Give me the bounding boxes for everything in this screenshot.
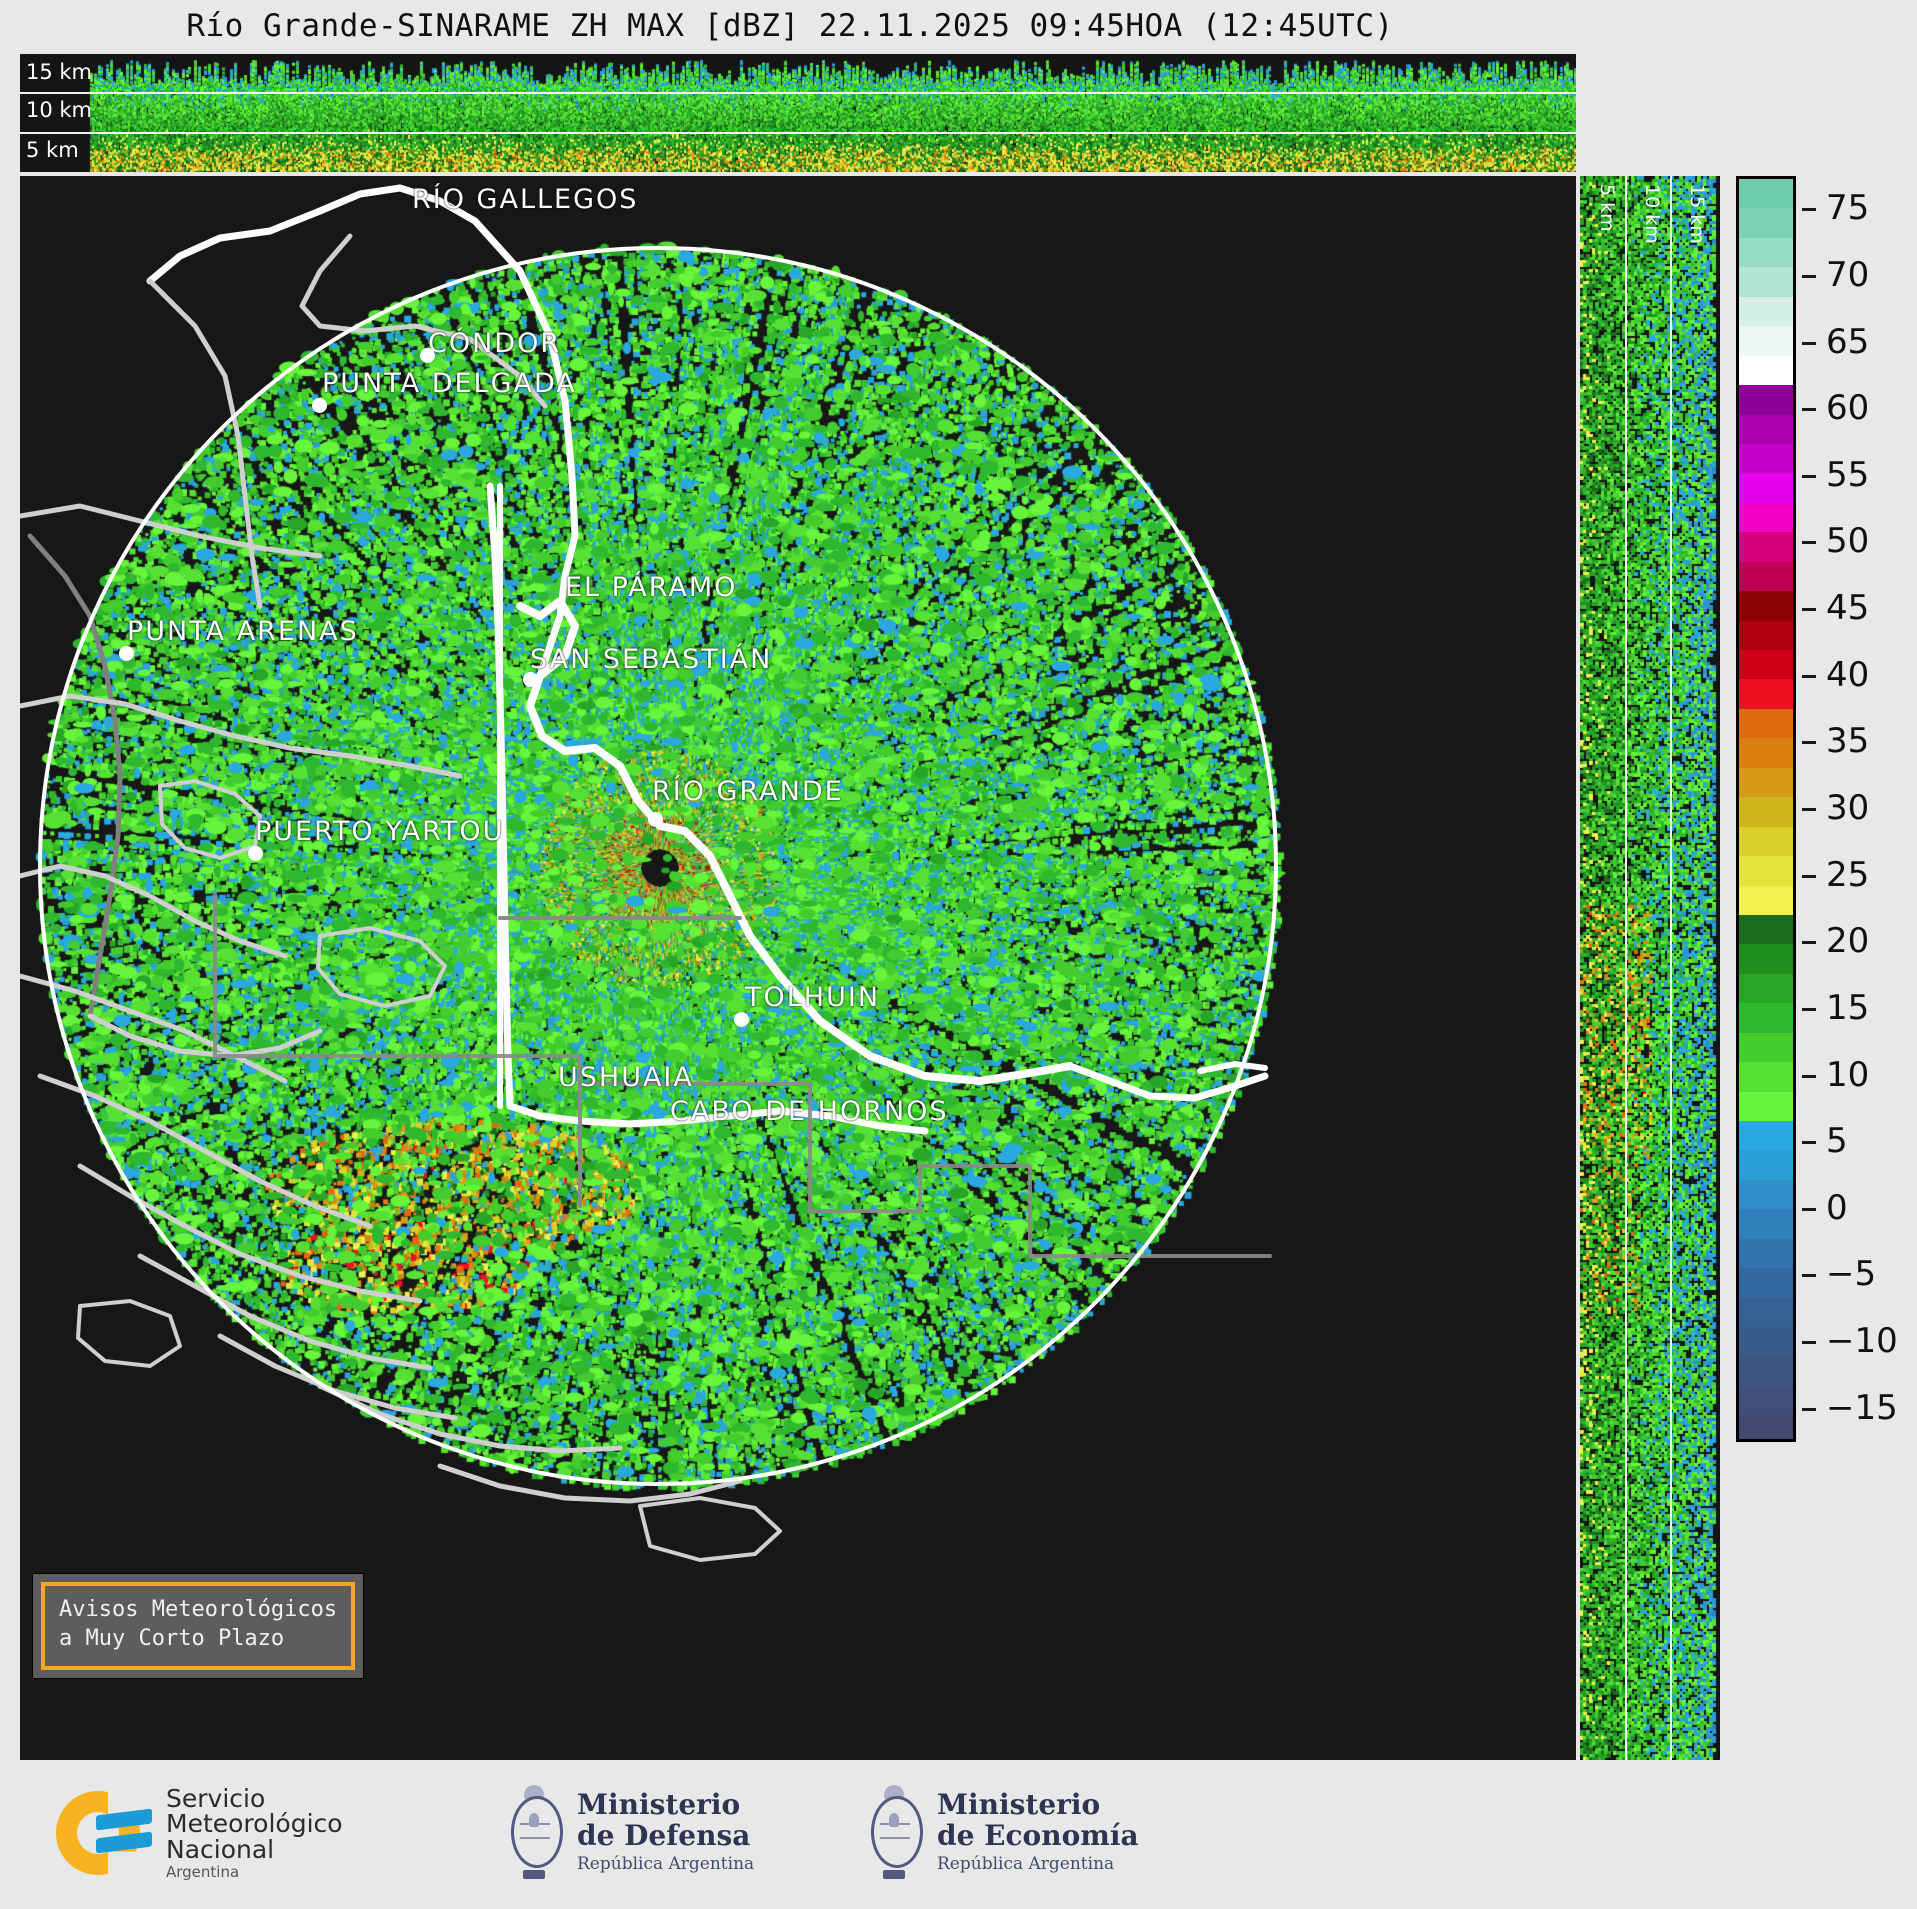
smn-line-3: Nacional xyxy=(166,1837,343,1863)
warning-line-2: a Muy Corto Plazo xyxy=(59,1624,337,1653)
colorbar-segment xyxy=(1739,709,1793,738)
xsec-label-10km: 10 km xyxy=(26,98,92,122)
map-station-dot xyxy=(420,348,435,363)
smn-line-1: Servicio xyxy=(166,1786,343,1812)
colorbar-segment xyxy=(1739,944,1793,973)
argentina-coat-of-arms-icon xyxy=(505,1783,563,1881)
colorbar-segment xyxy=(1739,503,1793,532)
map-station-dot xyxy=(734,1012,749,1027)
radar-ppi-panel[interactable]: RÍO GALLEGOSCÓNDORPUNTA DELGADAEL PÁRAMO… xyxy=(20,176,1576,1760)
colorbar-tick-label: −15 xyxy=(1826,1388,1898,1428)
footer-logos: Servicio Meteorológico Nacional Argentin… xyxy=(0,1775,1917,1909)
colorbar-segment xyxy=(1739,679,1793,708)
colorbar-segment xyxy=(1739,1150,1793,1179)
warning-line-1: Avisos Meteorológicos xyxy=(59,1595,337,1624)
map-station-dot xyxy=(119,646,134,661)
colorbar-segment xyxy=(1739,562,1793,591)
colorbar-segment xyxy=(1739,915,1793,944)
map-station-dot xyxy=(248,846,263,861)
economia-wordmark: Ministerio de Economía República Argenti… xyxy=(937,1790,1139,1874)
colorbar-segment xyxy=(1739,650,1793,679)
colorbar-segment xyxy=(1739,1062,1793,1091)
nowcast-warning-inner: Avisos Meteorológicos a Muy Corto Plazo xyxy=(41,1582,355,1670)
geo-line xyxy=(150,211,320,281)
colorbar-segment xyxy=(1739,591,1793,620)
colorbar-segment xyxy=(1739,208,1793,237)
map-label-san-sebastián: SAN SEBASTIÁN xyxy=(530,644,772,675)
colorbar-tick-label: 30 xyxy=(1826,788,1869,828)
defensa-line-2: de Defensa xyxy=(577,1821,754,1852)
vsec-gridline-5km xyxy=(1625,176,1627,1760)
colorbar-segment xyxy=(1739,385,1793,414)
map-label-río-gallegos: RÍO GALLEGOS xyxy=(412,184,638,215)
colorbar-segment xyxy=(1739,1268,1793,1297)
colorbar-tick-label: 40 xyxy=(1826,655,1869,695)
colorbar-segment xyxy=(1739,827,1793,856)
colorbar-tick-label: 35 xyxy=(1826,721,1869,761)
defensa-wordmark: Ministerio de Defensa República Argentin… xyxy=(577,1790,754,1874)
colorbar-segment xyxy=(1739,1415,1793,1442)
colorbar-segment xyxy=(1739,1327,1793,1356)
colorbar-segment xyxy=(1739,415,1793,444)
geo-line xyxy=(78,1301,180,1366)
colorbar-segment xyxy=(1739,1003,1793,1032)
map-label-cabo-de-hornos: CABO DE HORNOS xyxy=(670,1096,949,1127)
vsec-label-15km: 15 km xyxy=(1686,184,1708,244)
colorbar-tick-label: 75 xyxy=(1826,188,1869,228)
colorbar-segment xyxy=(1739,1180,1793,1209)
geo-line xyxy=(640,1498,780,1560)
colorbar-tick-label: 60 xyxy=(1826,388,1869,428)
smn-emblem-icon xyxy=(56,1785,152,1881)
colorbar-segment xyxy=(1739,179,1793,208)
xsec-echo-canvas xyxy=(20,54,1576,172)
colorbar: 757065605550454035302520151050−5−10−15 xyxy=(1736,176,1806,1442)
colorbar-segment xyxy=(1739,738,1793,767)
colorbar-segment xyxy=(1739,473,1793,502)
colorbar-tick-label: −10 xyxy=(1826,1321,1898,1361)
colorbar-segment xyxy=(1739,238,1793,267)
colorbar-tick-label: 65 xyxy=(1826,322,1869,362)
colorbar-segment xyxy=(1739,326,1793,355)
colorbar-segment xyxy=(1739,1298,1793,1327)
colorbar-segment xyxy=(1739,1239,1793,1268)
page-title: Río Grande-SINARAME ZH MAX [dBZ] 22.11.2… xyxy=(0,8,1580,44)
top-cross-section-panel: 15 km 10 km 5 km xyxy=(20,54,1576,172)
map-label-punta-delgada: PUNTA DELGADA xyxy=(322,368,577,399)
argentina-coat-of-arms-icon-2 xyxy=(865,1783,923,1881)
map-label-el-páramo: EL PÁRAMO xyxy=(565,572,737,603)
radar-range-ring xyxy=(38,246,1278,1486)
nowcast-warning-box[interactable]: Avisos Meteorológicos a Muy Corto Plazo xyxy=(32,1573,364,1679)
economia-line-3: República Argentina xyxy=(937,1855,1139,1874)
map-label-cóndor: CÓNDOR xyxy=(428,328,561,359)
smn-wordmark: Servicio Meteorológico Nacional Argentin… xyxy=(166,1786,343,1881)
colorbar-segment xyxy=(1739,532,1793,561)
colorbar-segment xyxy=(1739,768,1793,797)
colorbar-segment xyxy=(1739,621,1793,650)
colorbar-segment xyxy=(1739,1121,1793,1150)
colorbar-segment xyxy=(1739,1092,1793,1121)
colorbar-tick-label: 50 xyxy=(1826,521,1869,561)
colorbar-tick-label: 55 xyxy=(1826,455,1869,495)
xsec-label-5km: 5 km xyxy=(26,138,79,162)
colorbar-tick-label: 5 xyxy=(1826,1121,1848,1161)
vsec-gridline-10km xyxy=(1670,176,1672,1760)
smn-line-2: Meteorológico xyxy=(166,1811,343,1837)
xsec-gridline-10km xyxy=(20,132,1576,134)
colorbar-tick-label: 20 xyxy=(1826,921,1869,961)
colorbar-segment xyxy=(1739,856,1793,885)
defensa-line-3: República Argentina xyxy=(577,1855,754,1874)
map-label-ushuaia: USHUAIA xyxy=(558,1062,694,1093)
colorbar-segment xyxy=(1739,444,1793,473)
map-label-tolhuin: TOLHUIN xyxy=(745,982,880,1013)
logo-ministerio-de-economia: Ministerio de Economía República Argenti… xyxy=(865,1783,1139,1881)
logo-ministerio-de-defensa: Ministerio de Defensa República Argentin… xyxy=(505,1783,754,1881)
colorbar-segment xyxy=(1739,267,1793,296)
vsec-label-5km: 5 km xyxy=(1596,184,1618,232)
economia-line-2: de Economía xyxy=(937,1821,1139,1852)
vsec-echo-canvas xyxy=(1580,176,1720,1760)
right-cross-section-panel: 5 km 10 km 15 km xyxy=(1580,176,1720,1760)
smn-line-4: Argentina xyxy=(166,1865,343,1880)
map-station-dot xyxy=(312,398,327,413)
vsec-label-10km: 10 km xyxy=(1641,184,1663,244)
defensa-line-1: Ministerio xyxy=(577,1790,754,1821)
xsec-gridline-15km xyxy=(20,92,1576,94)
colorbar-segment xyxy=(1739,974,1793,1003)
map-station-dot xyxy=(648,812,663,827)
colorbar-segment xyxy=(1739,297,1793,326)
colorbar-segment xyxy=(1739,886,1793,915)
logo-servicio-meteorologico-nacional: Servicio Meteorológico Nacional Argentin… xyxy=(56,1785,343,1881)
xsec-label-15km: 15 km xyxy=(26,60,92,84)
colorbar-segment xyxy=(1739,1357,1793,1386)
colorbar-segment xyxy=(1739,1209,1793,1238)
colorbar-tick-label: 10 xyxy=(1826,1055,1869,1095)
colorbar-tick-label: 70 xyxy=(1826,255,1869,295)
colorbar-segment xyxy=(1739,797,1793,826)
economia-line-1: Ministerio xyxy=(937,1790,1139,1821)
colorbar-segment xyxy=(1739,1033,1793,1062)
map-label-punta-arenas: PUNTA ARENAS xyxy=(127,616,359,647)
colorbar-tick-label: 45 xyxy=(1826,588,1869,628)
map-label-puerto-yartou: PUERTO YARTOU xyxy=(255,816,504,847)
map-station-dot xyxy=(523,672,538,687)
colorbar-tick-label: −5 xyxy=(1826,1254,1876,1294)
map-label-río-grande: RÍO GRANDE xyxy=(652,776,844,807)
colorbar-segment xyxy=(1739,356,1793,385)
colorbar-gradient xyxy=(1736,176,1796,1442)
colorbar-tick-label: 15 xyxy=(1826,988,1869,1028)
colorbar-tick-label: 0 xyxy=(1826,1188,1848,1228)
colorbar-segment xyxy=(1739,1386,1793,1415)
colorbar-tick-label: 25 xyxy=(1826,855,1869,895)
